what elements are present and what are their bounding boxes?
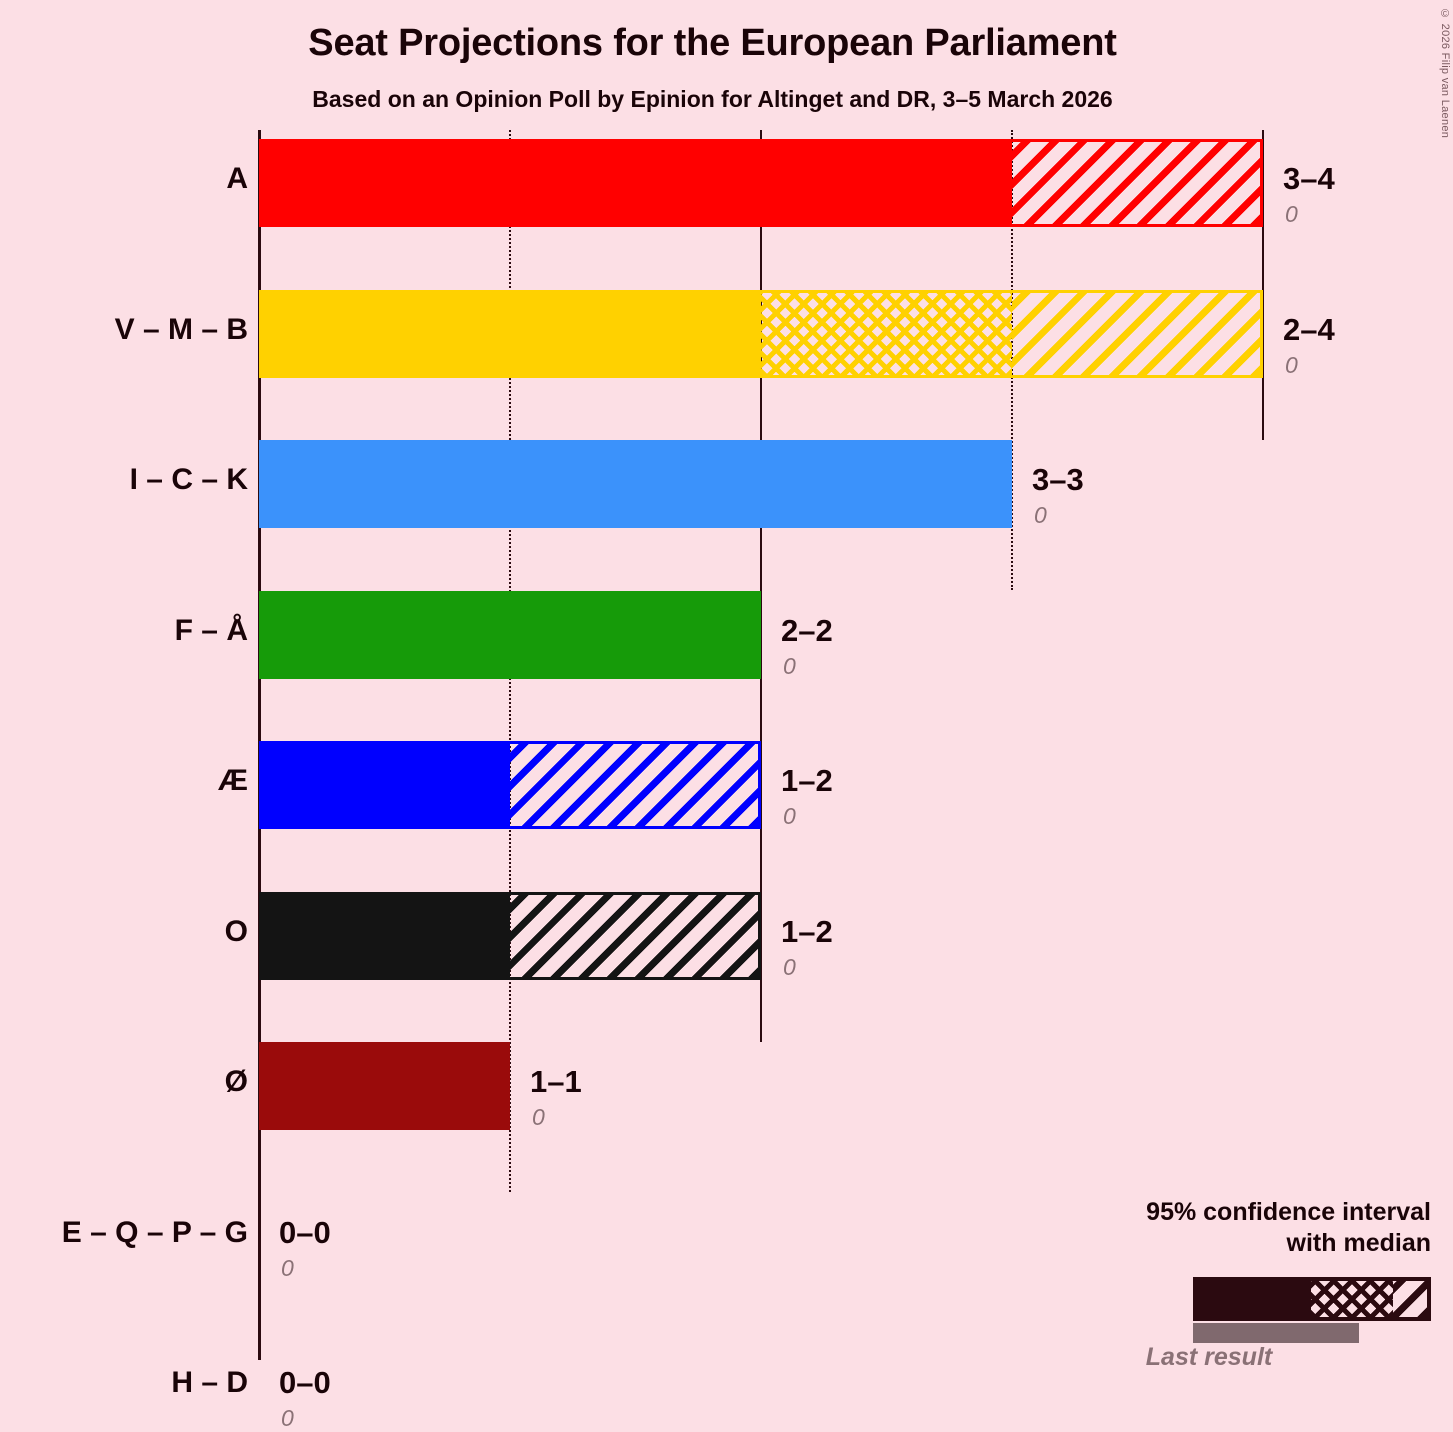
bar-value-label: 1–2 (781, 914, 833, 950)
legend-sample-bar (1193, 1277, 1431, 1321)
bar-last-result-label: 0 (1285, 201, 1298, 228)
bar-last-result-label: 0 (281, 1405, 294, 1432)
bar-row: Ø1–10 (0, 1042, 1453, 1130)
bar-row: F – Å2–20 (0, 591, 1453, 679)
bar (259, 290, 1263, 378)
bar-last-result-label: 0 (1285, 352, 1298, 379)
row-label-9: H – D (171, 1366, 248, 1400)
bar-segment-solid (259, 892, 510, 980)
legend-segment-median (1311, 1277, 1393, 1321)
row-label-6: O (225, 915, 248, 949)
legend-segment-upper-ci (1393, 1277, 1431, 1321)
bar-segment-upper-ci (1012, 290, 1263, 378)
bar-value-label: 2–4 (1283, 312, 1335, 348)
legend-last-result-label: Last result (1059, 1343, 1359, 1372)
bar-last-result-label: 0 (783, 653, 796, 680)
bar-segment-solid (259, 741, 510, 829)
bar-last-result-label: 0 (532, 1104, 545, 1131)
legend: 95% confidence interval with median (1011, 1197, 1431, 1258)
bar (259, 440, 1012, 528)
legend-caption: 95% confidence interval with median (1011, 1197, 1431, 1258)
row-label-7: Ø (225, 1065, 248, 1099)
bar-segment-solid (259, 1042, 510, 1130)
bar-last-result-label: 0 (281, 1255, 294, 1282)
bar (259, 1042, 510, 1130)
bar-segment-solid (259, 591, 761, 679)
bar (259, 139, 1263, 227)
bar-segment-solid (259, 139, 1012, 227)
bar-segment-solid (259, 440, 1012, 528)
bar-value-label: 3–4 (1283, 161, 1335, 197)
bar-value-label: 3–3 (1032, 462, 1084, 498)
bar (259, 741, 761, 829)
legend-caption-line2: with median (1011, 1228, 1431, 1259)
bar (259, 892, 761, 980)
bar-segment-solid (259, 290, 761, 378)
bar-segment-median (761, 290, 1012, 378)
legend-segment-solid (1193, 1277, 1311, 1321)
bar-last-result-label: 0 (783, 954, 796, 981)
bar-segment-upper-ci (510, 892, 761, 980)
row-label-3: I – C – K (130, 463, 248, 497)
bar-value-label: 2–2 (781, 613, 833, 649)
bar-row: Æ1–20 (0, 741, 1453, 829)
legend-caption-line1: 95% confidence interval (1011, 1197, 1431, 1228)
bar-value-label: 0–0 (279, 1215, 331, 1251)
row-label-1: A (226, 162, 248, 196)
legend-last-result-bar (1193, 1323, 1359, 1343)
bar-segment-upper-ci (1012, 139, 1263, 227)
bar-row: I – C – K3–30 (0, 440, 1453, 528)
bar-value-label: 0–0 (279, 1365, 331, 1401)
row-label-8: E – Q – P – G (62, 1216, 248, 1250)
chart-plot-area: A3–40V – M – B2–40I – C – K3–30F – Å2–20… (0, 0, 1453, 1394)
row-label-2: V – M – B (115, 313, 248, 347)
row-label-4: F – Å (175, 614, 248, 648)
bar-value-label: 1–1 (530, 1064, 582, 1100)
row-label-5: Æ (218, 764, 248, 798)
bar-last-result-label: 0 (783, 803, 796, 830)
bar-value-label: 1–2 (781, 763, 833, 799)
bar-segment-upper-ci (510, 741, 761, 829)
bar-row: A3–40 (0, 139, 1453, 227)
bar-row: O1–20 (0, 892, 1453, 980)
bar (259, 591, 761, 679)
bar-last-result-label: 0 (1034, 502, 1047, 529)
bar-row: V – M – B2–40 (0, 290, 1453, 378)
